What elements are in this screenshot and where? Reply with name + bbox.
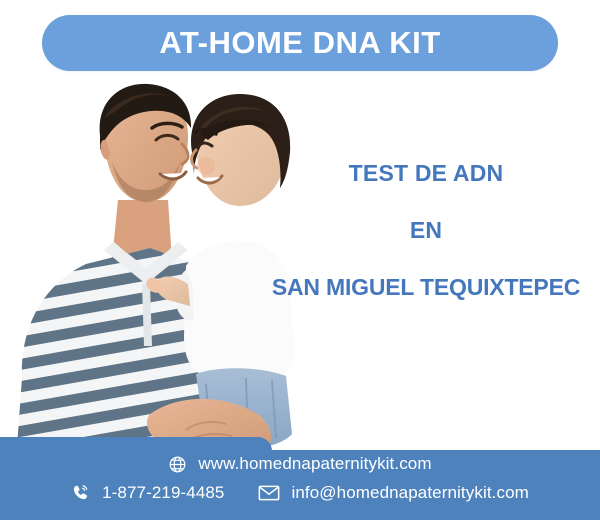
phone-icon (71, 483, 91, 503)
envelope-icon (258, 484, 280, 502)
footer-website-item[interactable]: www.homednapaternitykit.com (168, 454, 431, 474)
footer-phone-item[interactable]: 1-877-219-4485 (71, 483, 224, 503)
headline-block: TEST DE ADN EN SAN MIGUEL TEQUIXTEPEC (252, 160, 600, 301)
banner-title: AT-HOME DNA KIT (159, 25, 440, 61)
footer-email-text: info@homednapaternitykit.com (291, 483, 528, 503)
headline-spacer-2 (252, 244, 600, 274)
footer-row-website: www.homednapaternitykit.com (0, 454, 600, 474)
footer-website-text: www.homednapaternitykit.com (198, 454, 431, 474)
headline-line-3: SAN MIGUEL TEQUIXTEPEC (252, 274, 600, 301)
footer-phone-text: 1-877-219-4485 (102, 483, 224, 503)
banner-pill: AT-HOME DNA KIT (42, 15, 558, 71)
headline-line-1: TEST DE ADN (252, 160, 600, 187)
headline-line-2: EN (252, 217, 600, 244)
footer-row-contact: 1-877-219-4485 info@homednapaternitykit.… (0, 483, 600, 503)
footer-contact-bar: www.homednapaternitykit.com 1-877-219-44… (0, 450, 600, 520)
headline-spacer-1 (252, 187, 600, 217)
footer-email-item[interactable]: info@homednapaternitykit.com (258, 483, 528, 503)
globe-icon (168, 455, 187, 474)
poster-canvas: AT-HOME DNA KIT (0, 0, 600, 520)
header-banner: AT-HOME DNA KIT (0, 14, 600, 72)
